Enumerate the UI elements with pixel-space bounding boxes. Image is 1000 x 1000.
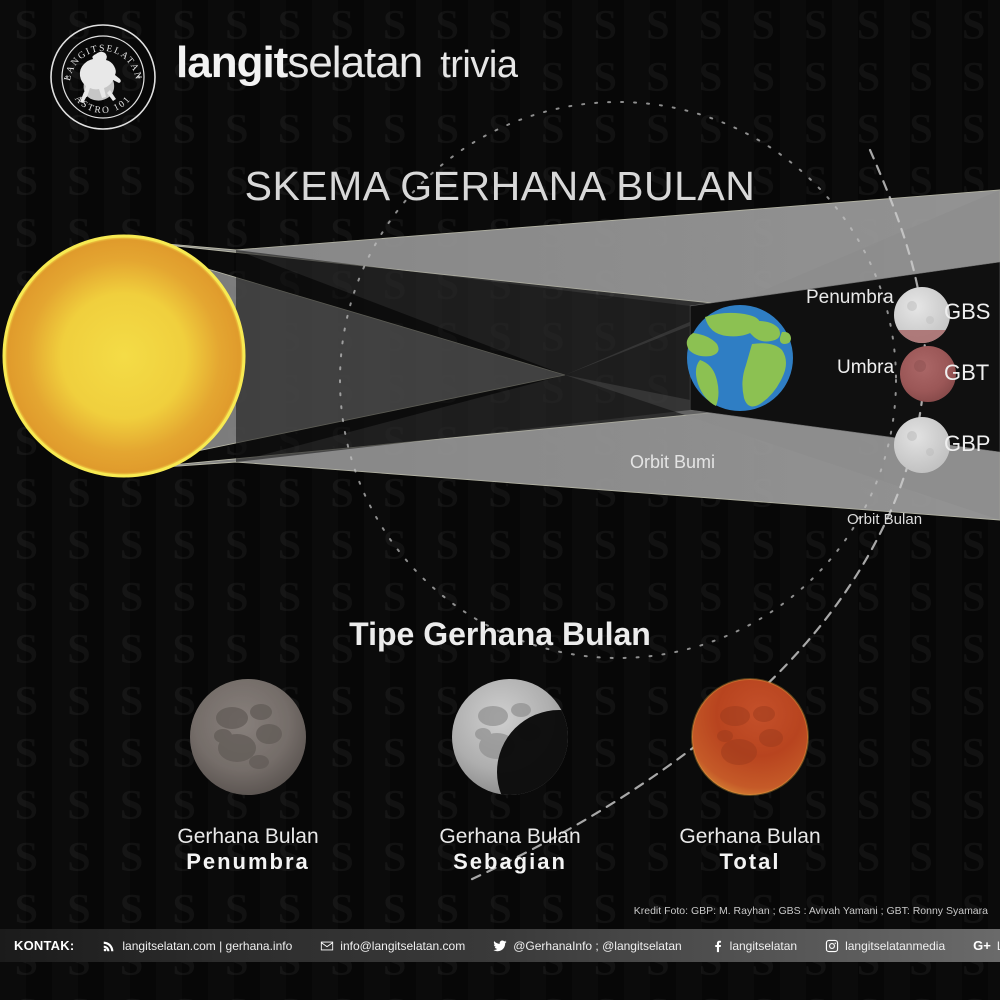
footer-item-email[interactable]: info@langitselatan.com [306,939,479,953]
sun-body [4,236,244,476]
footer-item-googleplus[interactable]: G+ LangitselatanMedia [959,938,1000,953]
svg-text:*: * [137,74,141,85]
gbt-label: GBT [944,360,989,386]
caption-line-2: Total [620,849,880,875]
svg-text:*: * [65,74,69,85]
eclipse-type-card-sebagian: Gerhana Bulan Sebagian [380,676,640,875]
brand-wordmark: langitselatantrivia [176,38,517,88]
brand-langit: langit [176,38,287,87]
caption-line-1: Gerhana Bulan [380,825,640,849]
caption-line-2: Penumbra [118,849,378,875]
orbit-bulan-label: Orbit Bulan [847,511,922,528]
footer-item-facebook[interactable]: langitselatan [696,939,811,953]
penumbra-label: Penumbra [806,287,894,309]
footer-item-text: langitselatan.com | gerhana.info [122,939,292,953]
photo-credit: Kredit Foto: GBP: M. Rayhan ; GBS : Aviv… [634,905,988,917]
footer-item-text: info@langitselatan.com [340,939,465,953]
instagram-icon [825,939,839,953]
footer-item-instagram[interactable]: langitselatanmedia [811,939,959,953]
mail-icon [320,939,334,953]
caption-line-2: Sebagian [380,849,640,875]
eclipse-type-card-total: Gerhana Bulan Total [620,676,880,875]
footer-item-twitter[interactable]: @GerhanaInfo ; @langitselatan [479,939,695,953]
umbra-label: Umbra [837,357,894,379]
brand-trivia: trivia [440,44,517,86]
facebook-icon [710,939,724,953]
moon-gbp-marker [894,417,950,473]
page-title: SKEMA GERHANA BULAN [0,163,1000,210]
total-eclipse-moon-photo [689,676,811,798]
earth-body [687,305,793,411]
logo-horse-rider-icon [80,52,121,103]
footer-item-text: langitselatan [730,939,797,953]
orbit-bumi-label: Orbit Bumi [630,452,715,473]
caption-line-1: Gerhana Bulan [118,825,378,849]
penumbral-eclipse-moon-photo [187,676,309,798]
contact-label: KONTAK: [0,938,88,953]
gbp-label: GBP [944,431,990,457]
langitselatan-logo-icon: LANGITSELATAN ASTRO 101 * * [48,22,158,132]
footer-item-text: @GerhanaInfo ; @langitselatan [513,939,681,953]
footer-item-website[interactable]: langitselatan.com | gerhana.info [88,939,306,953]
page-header: LANGITSELATAN ASTRO 101 * * langitselata… [0,0,1000,140]
gbs-label: GBS [944,299,990,325]
rss-icon [102,939,116,953]
footer-item-text: langitselatanmedia [845,939,945,953]
eclipse-type-card-penumbra: Gerhana Bulan Penumbra [118,676,378,875]
contact-footer-bar: KONTAK: langitselatan.com | gerhana.info… [0,929,1000,962]
twitter-icon [493,939,507,953]
googleplus-icon: G+ [973,938,991,953]
partial-eclipse-moon-photo [449,676,571,798]
brand-selatan: selatan [287,38,422,87]
caption-line-1: Gerhana Bulan [620,825,880,849]
types-section-title: Tipe Gerhana Bulan [0,616,1000,653]
